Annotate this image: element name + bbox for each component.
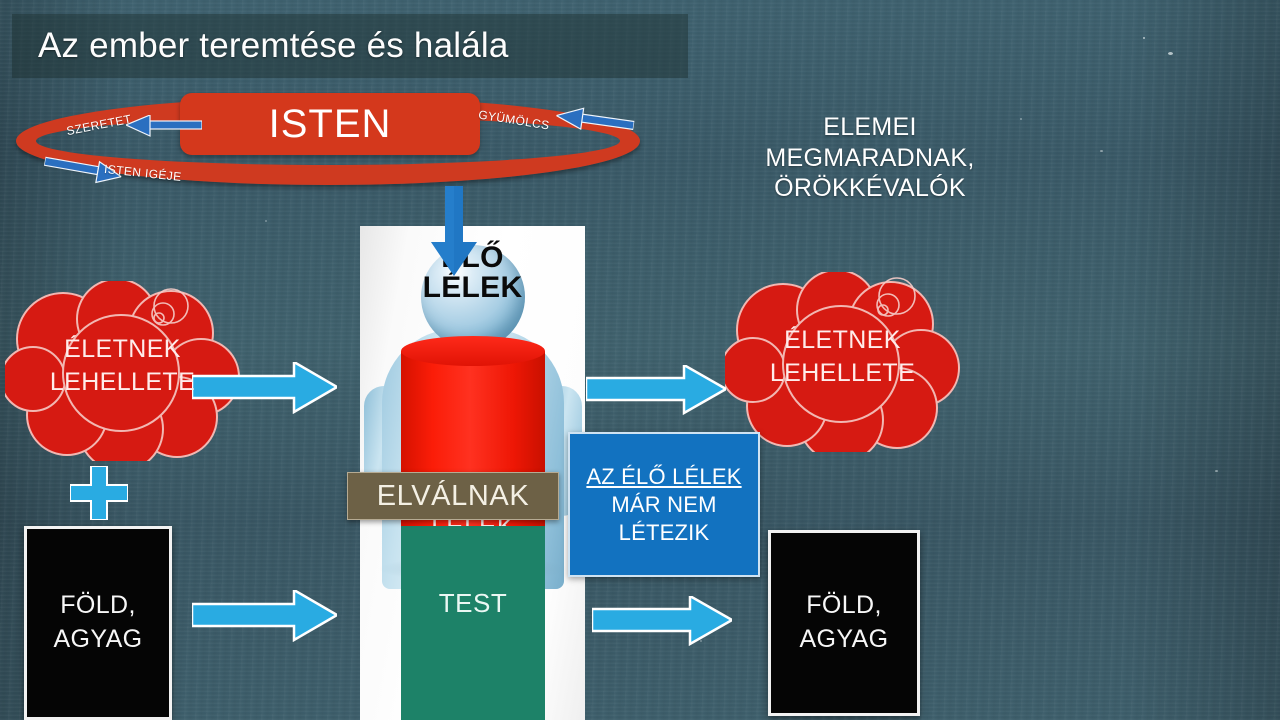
god-label: ISTEN: [269, 102, 392, 147]
slide-canvas: Az ember teremtése és halála ISTEN SZERE…: [0, 0, 1280, 720]
earth-box-left-line-1: FÖLD,: [53, 589, 142, 623]
earth-box-right-line-1: FÖLD,: [799, 589, 888, 623]
cloud-left-text: ÉLETNEK LEHELLETE: [5, 333, 240, 399]
cloud-right-text: ÉLETNEK LEHELLETE: [725, 324, 960, 390]
eternal-elements-note: ELEMEI MEGMARADNAK, ÖRÖKKÉVALÓK: [700, 112, 1040, 204]
dust-speck: [1100, 150, 1103, 152]
dust-speck: [1168, 52, 1173, 55]
earth-box-right: FÖLD, AGYAG: [768, 530, 920, 716]
note-line-1: ELEMEI: [700, 112, 1040, 143]
cloud-left: ÉLETNEK LEHELLETE: [5, 281, 240, 461]
separation-banner-label: ELVÁLNAK: [377, 480, 530, 513]
body-label: TEST: [401, 588, 545, 619]
earth-box-left-text: FÖLD, AGYAG: [53, 589, 142, 657]
earth-box-left-line-2: AGYAG: [53, 623, 142, 657]
flow-arrow-figure-to-earth: [592, 596, 732, 646]
info-box-line-3: LÉTEZIK: [619, 520, 710, 546]
cloud-left-line-2: LEHELLETE: [5, 366, 240, 399]
info-box-line-2: MÁR NEM: [611, 492, 716, 518]
flow-arrow-earth-to-figure: [192, 590, 337, 642]
god-label-box: ISTEN: [180, 93, 480, 155]
page-title: Az ember teremtése és halála: [12, 26, 509, 66]
dust-speck: [1215, 470, 1218, 472]
earth-box-right-text: FÖLD, AGYAG: [799, 589, 888, 657]
dust-speck: [265, 220, 267, 222]
note-line-3: ÖRÖKKÉVALÓK: [700, 173, 1040, 204]
title-band: Az ember teremtése és halála: [12, 14, 688, 78]
cloud-right-line-1: ÉLETNEK: [725, 324, 960, 357]
separation-banner: ELVÁLNAK: [347, 472, 559, 520]
soul-cylinder-top: [401, 336, 545, 366]
god-cycle-group: ISTEN SZERETET ISTEN IGÉJE GYÜMÖLCS: [8, 95, 648, 195]
dust-speck: [1143, 37, 1145, 39]
note-line-2: MEGMARADNAK,: [700, 143, 1040, 174]
szeretet-arrow-icon: [126, 115, 202, 137]
info-box-line-1: AZ ÉLŐ LÉLEK: [586, 464, 741, 490]
earth-box-right-line-2: AGYAG: [799, 623, 888, 657]
cloud-right: ÉLETNEK LEHELLETE: [725, 272, 960, 452]
earth-box-left: FÖLD, AGYAG: [24, 526, 172, 720]
cloud-right-line-2: LEHELLETE: [725, 357, 960, 390]
flow-arrow-figure-to-cloud: [586, 365, 726, 415]
breath-down-arrow-icon: [429, 186, 479, 278]
plus-icon: [70, 466, 128, 520]
info-box-soul-gone: AZ ÉLŐ LÉLEK MÁR NEM LÉTEZIK: [568, 432, 760, 577]
body-block: TEST: [401, 526, 545, 720]
cloud-left-line-1: ÉLETNEK: [5, 333, 240, 366]
